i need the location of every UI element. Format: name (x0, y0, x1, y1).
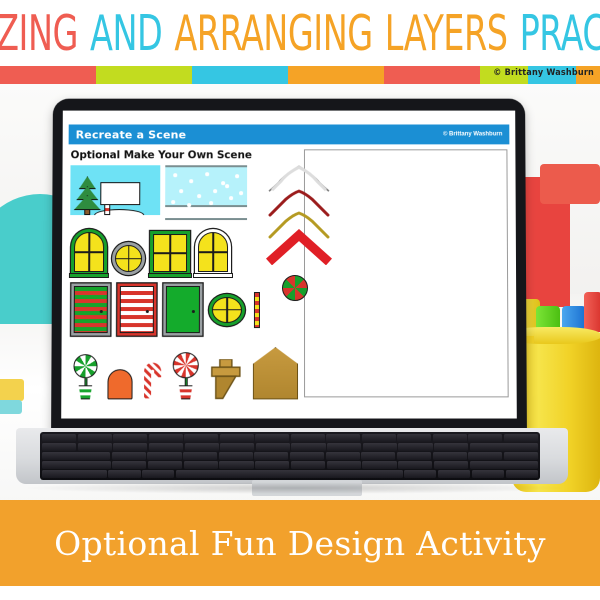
green-peppermint-topiary[interactable] (73, 354, 97, 399)
candy-cane[interactable] (143, 357, 163, 399)
keyboard-row-home (42, 461, 538, 469)
red-green-peppermint-swirl[interactable] (282, 275, 308, 301)
stripe-seg-5 (384, 66, 480, 84)
orange-gumdrop[interactable] (107, 369, 132, 399)
laptop-keyboard[interactable] (40, 432, 540, 480)
clipart-library: Optional Make Your Own Scene (69, 149, 298, 403)
keyboard-row-qwerty (42, 452, 538, 460)
clipart-row-scenes (70, 165, 298, 220)
title-word-and: AND (89, 6, 163, 62)
page-title: RESIZING AND ARRANGING LAYERS PRACTICE (0, 10, 600, 59)
gingerbread-chimney[interactable] (209, 359, 243, 399)
title-word-layers: LAYERS (384, 6, 509, 62)
slide-title: Recreate a Scene (76, 128, 187, 141)
keyboard-row-space (42, 470, 538, 478)
ground-line-divider (165, 218, 247, 220)
snow-mound (94, 209, 144, 215)
red-peppermint-topiary[interactable] (173, 352, 199, 399)
stripe-seg-2 (96, 66, 192, 84)
striped-door-green-red[interactable] (74, 286, 108, 333)
roof-chevron-group (266, 163, 336, 269)
slide-body: Optional Make Your Own Scene (67, 149, 510, 403)
title-word-resizing: RESIZING (0, 6, 79, 62)
slide-copyright: © Brittany Washburn (443, 131, 502, 137)
laptop-device: Recreate a Scene © Brittany Washburn Opt… (0, 84, 600, 504)
copyright-notice: © Brittany Washburn (493, 68, 594, 78)
instruction-label: Optional Make Your Own Scene (71, 149, 298, 161)
striped-door-white-red[interactable] (120, 286, 154, 333)
snowfall-background-panel[interactable] (165, 165, 247, 207)
arched-window-white-frame[interactable] (198, 232, 228, 272)
gingerbread-house-base[interactable] (253, 347, 298, 399)
stripe-seg-3 (192, 66, 288, 84)
clipart-row-doors (74, 286, 298, 333)
winter-scene-with-tree-and-sign[interactable] (70, 165, 160, 215)
stripe-seg-1 (0, 66, 96, 84)
round-window-gray-frame[interactable] (115, 245, 142, 272)
square-window-green-red-frame[interactable] (153, 234, 187, 272)
bottom-banner: Optional Fun Design Activity (0, 500, 600, 586)
bottom-white-strip (0, 586, 600, 600)
keyboard-row-numbers (42, 443, 538, 451)
red-roof[interactable] (266, 229, 332, 265)
clipart-row-decor (73, 347, 298, 399)
slide-header-bar: Recreate a Scene © Brittany Washburn (69, 124, 510, 144)
laptop-lid: Recreate a Scene © Brittany Washburn Opt… (51, 99, 527, 433)
pine-tree-icon (72, 169, 102, 215)
plain-green-door[interactable] (166, 286, 200, 333)
laptop-screen[interactable]: Recreate a Scene © Brittany Washburn Opt… (61, 111, 517, 419)
title-word-practice: PRACTICE (518, 6, 600, 62)
stripe-seg-4 (288, 66, 384, 84)
snow-panel-group (165, 165, 247, 220)
laptop-shadow (20, 482, 568, 494)
keyboard-row-function (42, 434, 538, 442)
presentation-slide[interactable]: Recreate a Scene © Brittany Washburn Opt… (61, 111, 517, 419)
oval-window-green-frame[interactable] (212, 297, 242, 323)
arched-window-green-frame[interactable] (74, 232, 104, 272)
title-word-arranging: ARRANGING (173, 6, 373, 62)
candy-stripe-pole[interactable] (254, 292, 260, 328)
title-band: RESIZING AND ARRANGING LAYERS PRACTICE (0, 0, 600, 68)
blank-sign-board (100, 182, 140, 205)
clipart-row-windows (74, 232, 298, 272)
banner-text: Optional Fun Design Activity (54, 524, 546, 563)
